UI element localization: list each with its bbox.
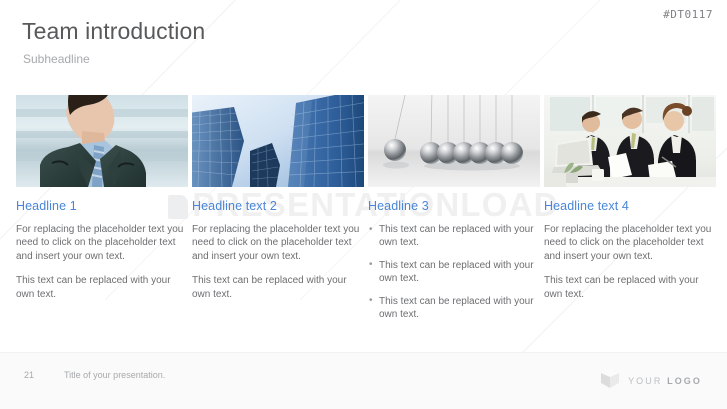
business-team-meeting-image[interactable] [544, 95, 716, 187]
list-item: This text can be replaced with your own … [368, 259, 540, 286]
column-paragraph-secondary: This text can be replaced with your own … [544, 274, 716, 301]
column-paragraph: For replacing the placeholder text you n… [544, 223, 716, 263]
column-headline: Headline 3 [368, 199, 540, 214]
content-column-1: Headline 1 For replacing the placeholder… [16, 95, 188, 330]
column-paragraph-secondary: This text can be replaced with your own … [16, 274, 188, 301]
column-headline: Headline 1 [16, 199, 188, 214]
content-columns: Headline 1 For replacing the placeholder… [16, 95, 713, 330]
logo-word-2: LOGO [667, 376, 702, 386]
column-paragraph: For replacing the placeholder text you n… [16, 223, 188, 263]
businessman-portrait-image[interactable] [16, 95, 188, 187]
slide: PRESENTATIONLOAD #DT0117 Team introducti… [0, 0, 727, 409]
list-item: This text can be replaced with your own … [368, 223, 540, 250]
column-headline: Headline text 2 [192, 199, 364, 214]
page-subtitle: Subheadline [23, 52, 90, 66]
footer-title: Title of your presentation. [64, 370, 165, 380]
column-headline: Headline text 4 [544, 199, 716, 214]
content-column-2: Headline text 2 For replacing the placeh… [192, 95, 364, 330]
column-paragraph-secondary: This text can be replaced with your own … [192, 274, 364, 301]
logo-block[interactable]: YOUR LOGO [600, 368, 702, 394]
cube-logo-icon [600, 368, 620, 394]
skyscrapers-image[interactable] [192, 95, 364, 187]
content-column-4: Headline text 4 For replacing the placeh… [544, 95, 716, 330]
document-id: #DT0117 [663, 8, 713, 21]
page-title: Team introduction [22, 18, 205, 45]
column-paragraph: For replacing the placeholder text you n… [192, 223, 364, 263]
logo-word-1: YOUR [628, 376, 662, 386]
page-number: 21 [24, 370, 34, 380]
list-item: This text can be replaced with your own … [368, 295, 540, 322]
content-column-3: Headline 3 This text can be replaced wit… [368, 95, 540, 330]
newtons-cradle-image[interactable] [368, 95, 540, 187]
column-bullet-list: This text can be replaced with your own … [368, 223, 540, 321]
footer-divider [0, 352, 727, 353]
logo-text: YOUR LOGO [628, 376, 702, 386]
